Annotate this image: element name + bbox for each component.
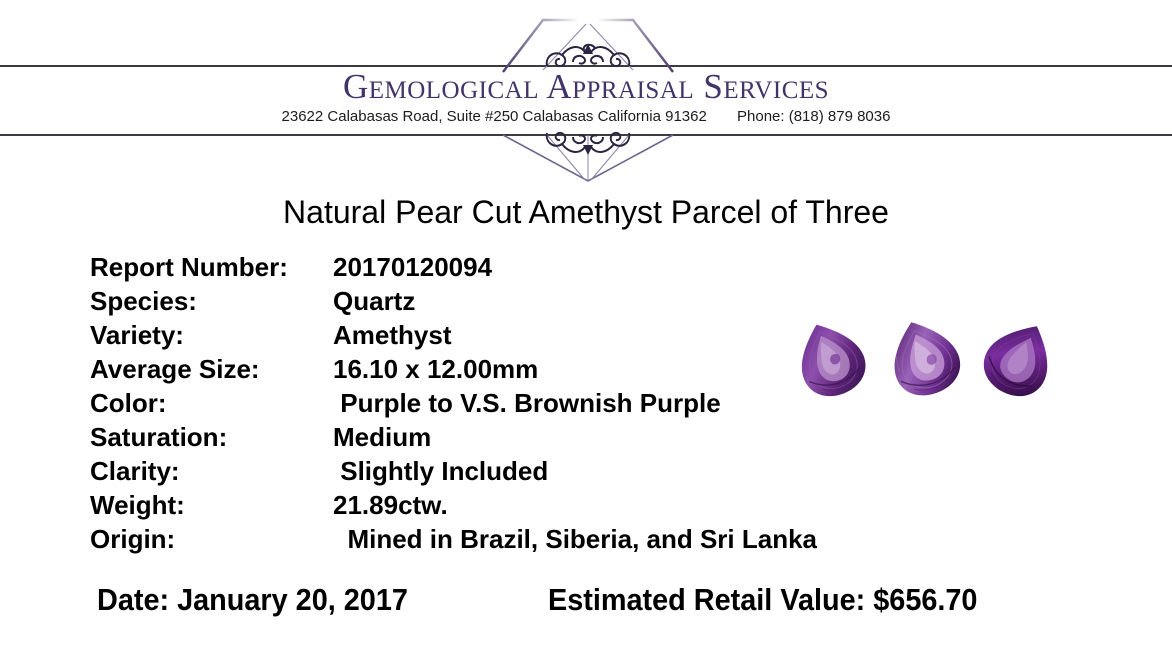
spec-label: Saturation: [90,422,333,453]
document-footer: Date: January 20, 2017 Estimated Retail … [0,582,1172,622]
spec-row-species: Species: Quartz [90,286,990,320]
spec-value: 20170120094 [333,252,492,283]
company-name: Gemological Appraisal Services [0,69,1172,105]
spec-label: Species: [90,286,333,317]
spec-label: Average Size: [90,354,333,385]
spec-value: Amethyst [333,320,451,351]
spec-row-origin: Origin: Mined in Brazil, Siberia, and Sr… [90,524,990,558]
spec-row-clarity: Clarity: Slightly Included [90,456,990,490]
spec-value: 21.89ctw. [333,490,448,521]
spec-label: Weight: [90,490,333,521]
specification-list: Report Number: 20170120094 Species: Quar… [90,252,990,558]
spec-value: Medium [333,422,431,453]
spec-label: Origin: [90,524,333,555]
spec-value: Quartz [333,286,415,317]
pear-cut-amethyst-trio-icon [784,318,1084,398]
spec-label: Color: [90,388,333,419]
letterhead-contact-line: 23622 Calabasas Road, Suite #250 Calabas… [0,108,1172,126]
company-phone: Phone: (818) 879 8036 [737,108,890,126]
company-address: 23622 Calabasas Road, Suite #250 Calabas… [282,108,707,125]
spec-value: Mined in Brazil, Siberia, and Sri Lanka [333,524,817,555]
spec-label: Variety: [90,320,333,351]
spec-value: Slightly Included [333,456,548,487]
spec-row-saturation: Saturation: Medium [90,422,990,456]
spec-row-weight: Weight: 21.89ctw. [90,490,990,524]
estimated-retail-value: Estimated Retail Value: $656.70 [548,582,977,618]
spec-label: Clarity: [90,456,333,487]
appraisal-date: Date: January 20, 2017 [97,582,408,618]
spec-value: Purple to V.S. Brownish Purple [333,388,721,419]
spec-row-report-number: Report Number: 20170120094 [90,252,990,286]
spec-label: Report Number: [90,252,333,283]
spec-value: 16.10 x 12.00mm [333,354,538,385]
document-title: Natural Pear Cut Amethyst Parcel of Thre… [0,192,1172,232]
appraisal-document-page: Gemological Appraisal Services 23622 Cal… [0,0,1172,652]
